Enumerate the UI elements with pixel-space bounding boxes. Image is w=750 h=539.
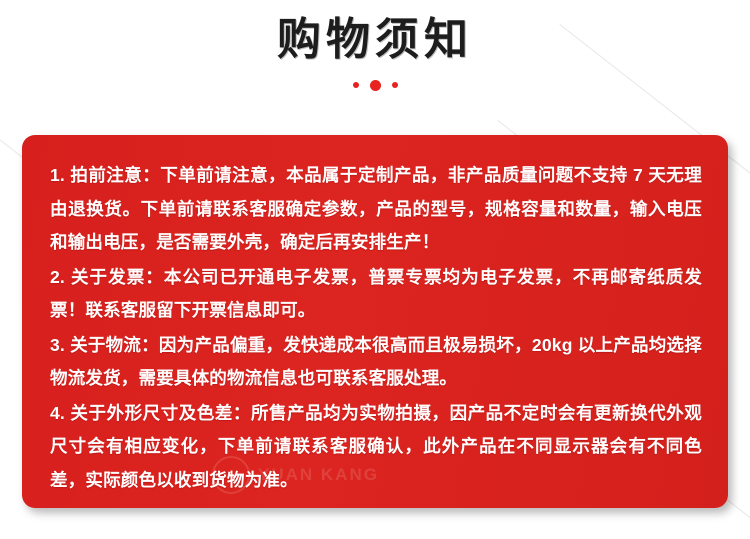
notice-item-3: 3. 关于物流：因为产品偏重，发快递成本很高而且极易损坏，20kg 以上产品均选…: [50, 329, 702, 396]
notice-list: 1. 拍前注意：下单前请注意，本品属于定制产品，非产品质量问题不支持 7 天无理…: [50, 159, 702, 497]
notice-panel: YUAN KANG 1. 拍前注意：下单前请注意，本品属于定制产品，非产品质量问…: [22, 135, 728, 508]
notice-item-1: 1. 拍前注意：下单前请注意，本品属于定制产品，非产品质量问题不支持 7 天无理…: [50, 159, 702, 260]
dot-center-icon: [370, 80, 381, 91]
notice-item-2: 2. 关于发票：本公司已开通电子发票，普票专票均为电子发票，不再邮寄纸质发票！联…: [50, 261, 702, 328]
notice-item-4: 4. 关于外形尺寸及色差：所售产品均为实物拍摄，因产品不定时会有更新换代外观尺寸…: [50, 397, 702, 498]
page-header: 购物须知: [0, 0, 750, 92]
shopping-notice-page: 购物须知 YUAN KANG 1. 拍前注意：下单前请注意，本品属于定制产品，非…: [0, 0, 750, 534]
dot-right-icon: [392, 82, 398, 88]
decorative-dots: [0, 78, 750, 92]
dot-left-icon: [353, 82, 359, 88]
page-title: 购物须知: [0, 14, 750, 66]
